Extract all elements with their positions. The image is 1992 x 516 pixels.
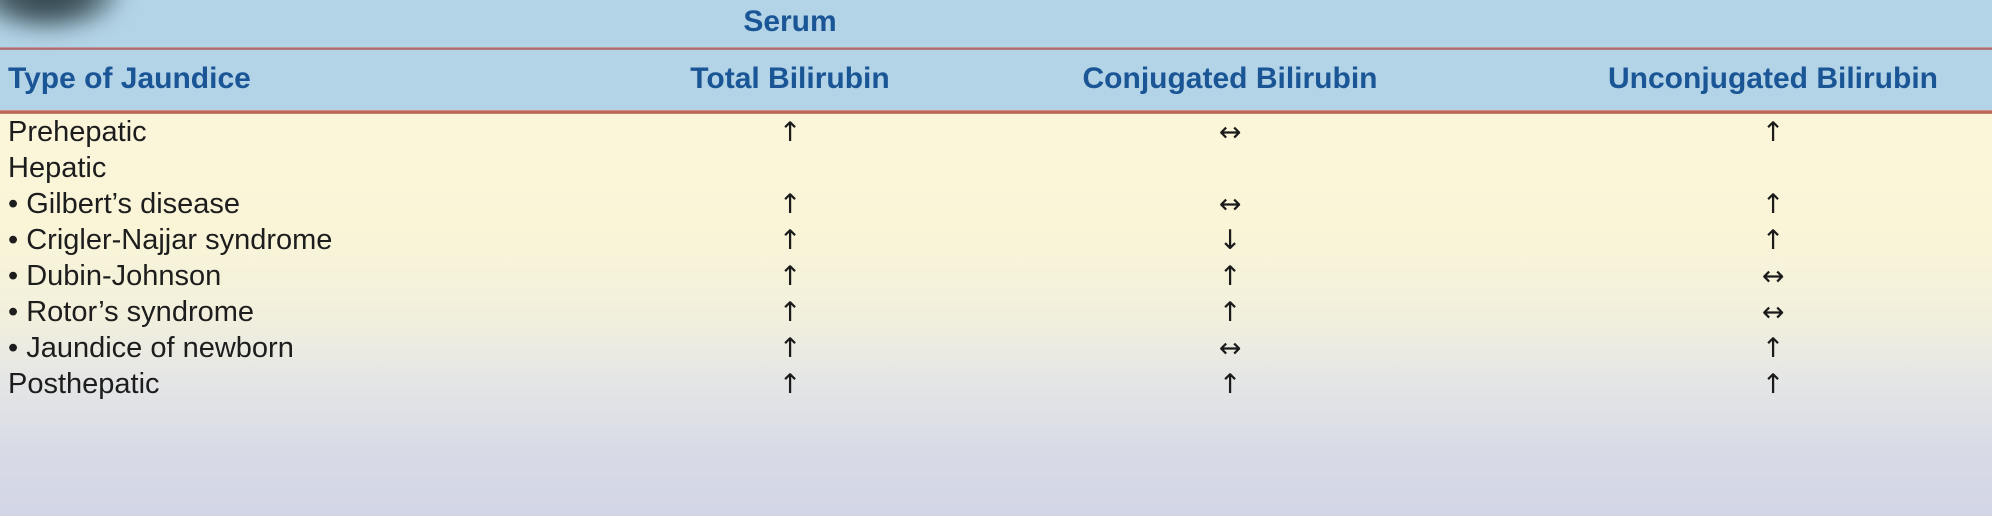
cell-total-bilirubin <box>540 150 1040 186</box>
cell-conjugated-bilirubin: ↑ <box>980 294 1480 330</box>
rule-above-column-headers <box>0 47 1992 50</box>
trend-arrow-icon: ↑ <box>779 189 802 220</box>
cell-unconjugated-bilirubin: ↑ <box>1523 114 1992 150</box>
trend-arrow-icon: ↑ <box>1762 189 1785 220</box>
row-label: • Dubin-Johnson <box>8 258 221 294</box>
bullet-icon: • <box>8 260 26 292</box>
cell-conjugated-bilirubin: ↓ <box>980 222 1480 258</box>
bullet-icon: • <box>8 296 26 328</box>
table-row: • Gilbert’s disease↑↔↑ <box>0 186 1992 222</box>
table-row: • Crigler-Najjar syndrome↑↓↑ <box>0 222 1992 258</box>
trend-arrow-icon: ↑ <box>779 297 802 328</box>
trend-arrow-icon: ↔ <box>1219 333 1242 364</box>
cell-conjugated-bilirubin: ↑ <box>980 366 1480 402</box>
trend-arrow-icon: ↑ <box>779 117 802 148</box>
table-row: • Dubin-Johnson↑↑↔ <box>0 258 1992 294</box>
cell-total-bilirubin: ↑ <box>540 294 1040 330</box>
jaundice-bilirubin-table: Serum Type of Jaundice Total Bilirubin C… <box>0 0 1992 516</box>
trend-arrow-icon: ↑ <box>779 225 802 256</box>
table-row: • Rotor’s syndrome↑↑↔ <box>0 294 1992 330</box>
row-label: Hepatic <box>8 150 106 186</box>
trend-arrow-icon: ↑ <box>1219 369 1242 400</box>
row-label: Posthepatic <box>8 366 160 402</box>
column-header-type-of-jaundice: Type of Jaundice <box>8 53 251 107</box>
bullet-icon: • <box>8 224 26 256</box>
trend-arrow-icon: ↑ <box>779 261 802 292</box>
cell-unconjugated-bilirubin: ↑ <box>1523 222 1992 258</box>
cell-conjugated-bilirubin: ↔ <box>980 186 1480 222</box>
cell-conjugated-bilirubin: ↑ <box>980 258 1480 294</box>
trend-arrow-icon: ↑ <box>1219 261 1242 292</box>
cell-unconjugated-bilirubin: ↑ <box>1523 330 1992 366</box>
trend-arrow-icon: ↑ <box>1762 225 1785 256</box>
trend-arrow-icon: ↑ <box>1762 333 1785 364</box>
table-row: • Jaundice of newborn↑↔↑ <box>0 330 1992 366</box>
cell-total-bilirubin: ↑ <box>540 114 1040 150</box>
row-label: • Rotor’s syndrome <box>8 294 254 330</box>
cell-unconjugated-bilirubin: ↔ <box>1523 294 1992 330</box>
cell-unconjugated-bilirubin: ↔ <box>1523 258 1992 294</box>
row-label-text: Dubin-Johnson <box>26 260 221 292</box>
table-row: Hepatic <box>0 150 1992 186</box>
cell-unconjugated-bilirubin: ↑ <box>1523 366 1992 402</box>
row-label: Prehepatic <box>8 114 147 150</box>
group-header-serum: Serum <box>0 0 1992 48</box>
cell-conjugated-bilirubin: ↔ <box>980 330 1480 366</box>
cell-total-bilirubin: ↑ <box>540 366 1040 402</box>
table-row: Prehepatic↑↔↑ <box>0 114 1992 150</box>
trend-arrow-icon: ↔ <box>1762 297 1785 328</box>
cell-total-bilirubin: ↑ <box>540 258 1040 294</box>
cell-total-bilirubin: ↑ <box>540 330 1040 366</box>
trend-arrow-icon: ↑ <box>779 369 802 400</box>
bullet-icon: • <box>8 188 26 220</box>
row-label-text: Gilbert’s disease <box>26 188 240 220</box>
cell-total-bilirubin: ↑ <box>540 186 1040 222</box>
trend-arrow-icon: ↔ <box>1219 117 1242 148</box>
table-row: Posthepatic↑↑↑ <box>0 366 1992 402</box>
row-label: • Jaundice of newborn <box>8 330 294 366</box>
group-header-label: Serum <box>743 5 836 38</box>
cell-unconjugated-bilirubin <box>1523 150 1992 186</box>
row-label: • Gilbert’s disease <box>8 186 240 222</box>
trend-arrow-icon: ↓ <box>1219 225 1242 256</box>
column-header-unconjugated-bilirubin: Unconjugated Bilirubin <box>1240 53 1992 107</box>
trend-arrow-icon: ↔ <box>1219 189 1242 220</box>
table-body: Prehepatic↑↔↑Hepatic• Gilbert’s disease↑… <box>0 114 1992 516</box>
bullet-icon: • <box>8 332 26 364</box>
cell-conjugated-bilirubin: ↔ <box>980 114 1480 150</box>
trend-arrow-icon: ↑ <box>779 333 802 364</box>
cell-unconjugated-bilirubin: ↑ <box>1523 186 1992 222</box>
row-label: • Crigler-Najjar syndrome <box>8 222 332 258</box>
row-label-text: Rotor’s syndrome <box>26 296 254 328</box>
row-label-text: Crigler-Najjar syndrome <box>26 224 332 256</box>
trend-arrow-icon: ↑ <box>1219 297 1242 328</box>
trend-arrow-icon: ↑ <box>1762 117 1785 148</box>
cell-conjugated-bilirubin <box>980 150 1480 186</box>
row-label-text: Jaundice of newborn <box>26 332 294 364</box>
table-header-band: Serum Type of Jaundice Total Bilirubin C… <box>0 0 1992 112</box>
trend-arrow-icon: ↔ <box>1762 261 1785 292</box>
cell-total-bilirubin: ↑ <box>540 222 1040 258</box>
trend-arrow-icon: ↑ <box>1762 369 1785 400</box>
